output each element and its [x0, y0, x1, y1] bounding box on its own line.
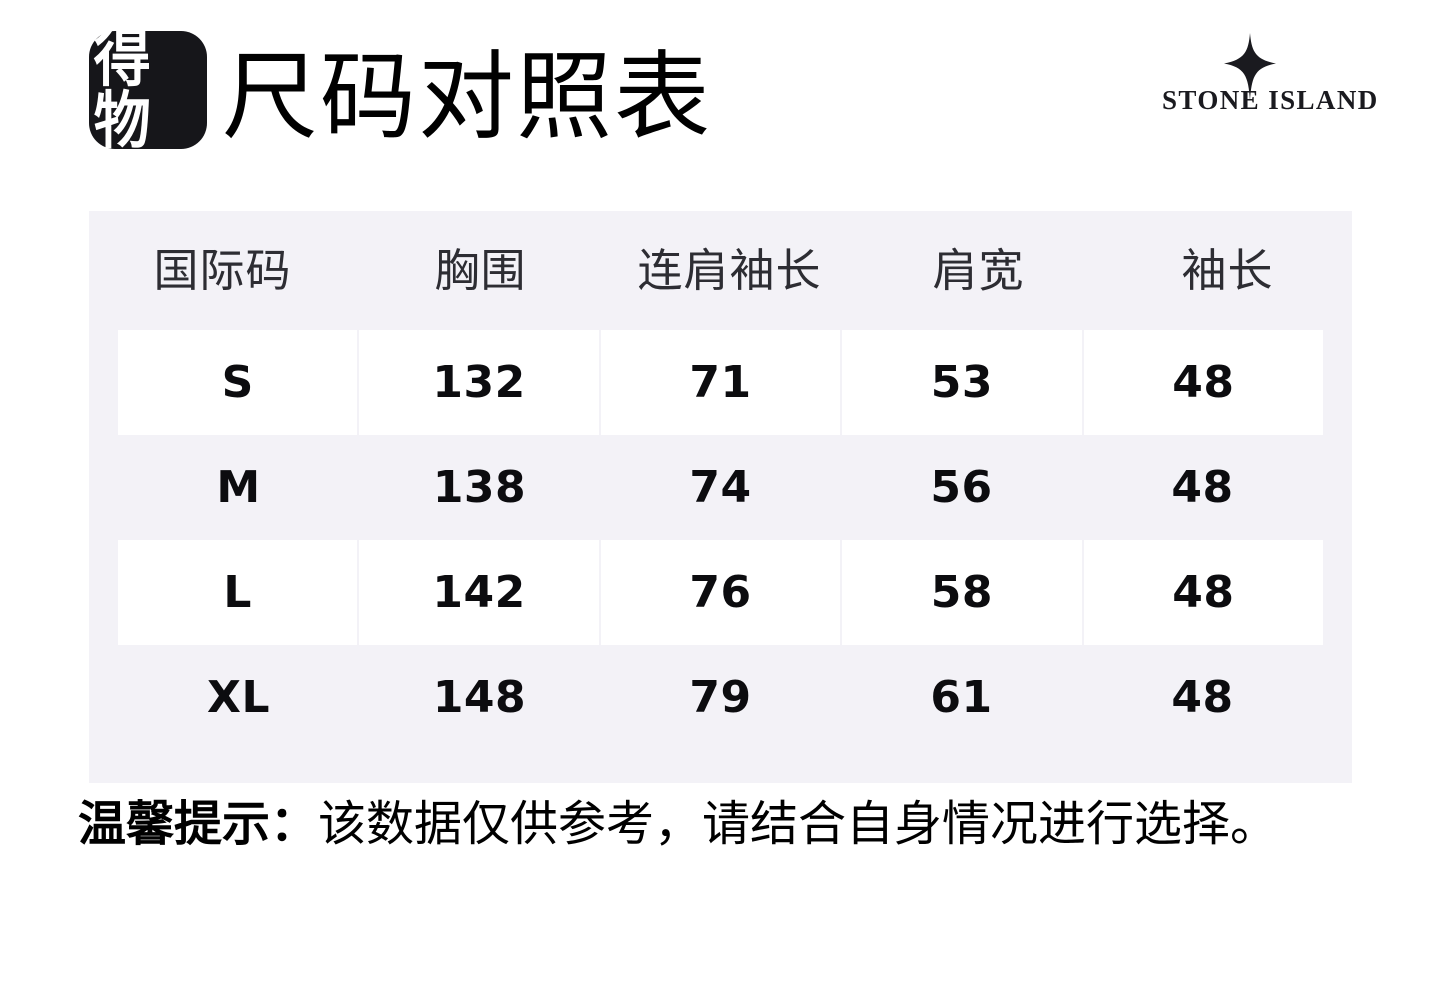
size-chart-table: 国际码 胸围 连肩袖长 肩宽 袖长 S 132 71 53 48 M 138 7…	[89, 211, 1352, 783]
row-pad-left	[89, 330, 118, 435]
footnote-label: 温馨提示：	[78, 796, 318, 852]
cell-chest: 132	[357, 330, 598, 435]
row-pad-right	[1323, 540, 1352, 645]
cell-chest: 142	[357, 540, 598, 645]
cell-size: L	[118, 540, 357, 645]
cell-size: M	[118, 435, 359, 540]
table-row: M 138 74 56 48	[89, 435, 1352, 540]
cell-sleeve: 48	[1082, 645, 1323, 750]
cell-raglan-sleeve: 71	[599, 330, 840, 435]
row-pad-right	[1323, 435, 1352, 540]
stone-island-wordmark: STONE ISLAND	[1162, 85, 1337, 115]
column-header-shoulder-width: 肩宽	[854, 245, 1103, 297]
table-body: S 132 71 53 48 M 138 74 56 48 L 142 76	[89, 330, 1352, 783]
size-chart-page: 得物 尺码对照表 STONE ISLAND 国际码 胸围 连肩袖长 肩宽 袖长 …	[0, 0, 1443, 1005]
row-pad-right	[1323, 645, 1352, 750]
row-pad-left	[89, 435, 118, 540]
column-header-sleeve-length: 袖长	[1103, 245, 1352, 297]
cell-chest: 148	[359, 645, 600, 750]
cell-raglan-sleeve: 74	[600, 435, 841, 540]
column-header-international-size: 国际码	[89, 245, 356, 297]
column-header-chest: 胸围	[356, 245, 605, 297]
cell-size: XL	[118, 645, 359, 750]
dewu-logo-label: 得物	[94, 28, 203, 152]
footnote-text: 该数据仅供参考，请结合自身情况进行选择。	[318, 796, 1278, 852]
row-pad-left	[89, 645, 118, 750]
cell-size: S	[118, 330, 357, 435]
cell-shoulder: 56	[841, 435, 1082, 540]
cell-shoulder: 53	[840, 330, 1081, 435]
table-row: S 132 71 53 48	[89, 330, 1352, 435]
cell-sleeve: 48	[1082, 540, 1323, 645]
row-pad-left	[89, 540, 118, 645]
table-row: XL 148 79 61 48	[89, 645, 1352, 750]
page-title: 尺码对照表	[222, 42, 712, 152]
stone-island-brand-mark: STONE ISLAND	[1162, 33, 1337, 118]
page-header: 得物 尺码对照表 STONE ISLAND	[0, 0, 1443, 190]
table-row: L 142 76 58 48	[89, 540, 1352, 645]
cell-raglan-sleeve: 79	[600, 645, 841, 750]
table-header-row: 国际码 胸围 连肩袖长 肩宽 袖长	[89, 211, 1352, 330]
column-header-raglan-sleeve: 连肩袖长	[605, 245, 854, 297]
cell-shoulder: 61	[841, 645, 1082, 750]
cell-raglan-sleeve: 76	[599, 540, 840, 645]
cell-chest: 138	[359, 435, 600, 540]
cell-shoulder: 58	[840, 540, 1081, 645]
footnote: 温馨提示：该数据仅供参考，请结合自身情况进行选择。	[78, 793, 1378, 855]
cell-sleeve: 48	[1082, 330, 1323, 435]
dewu-app-logo-icon: 得物	[89, 31, 207, 149]
row-pad-right	[1323, 330, 1352, 435]
cell-sleeve: 48	[1082, 435, 1323, 540]
